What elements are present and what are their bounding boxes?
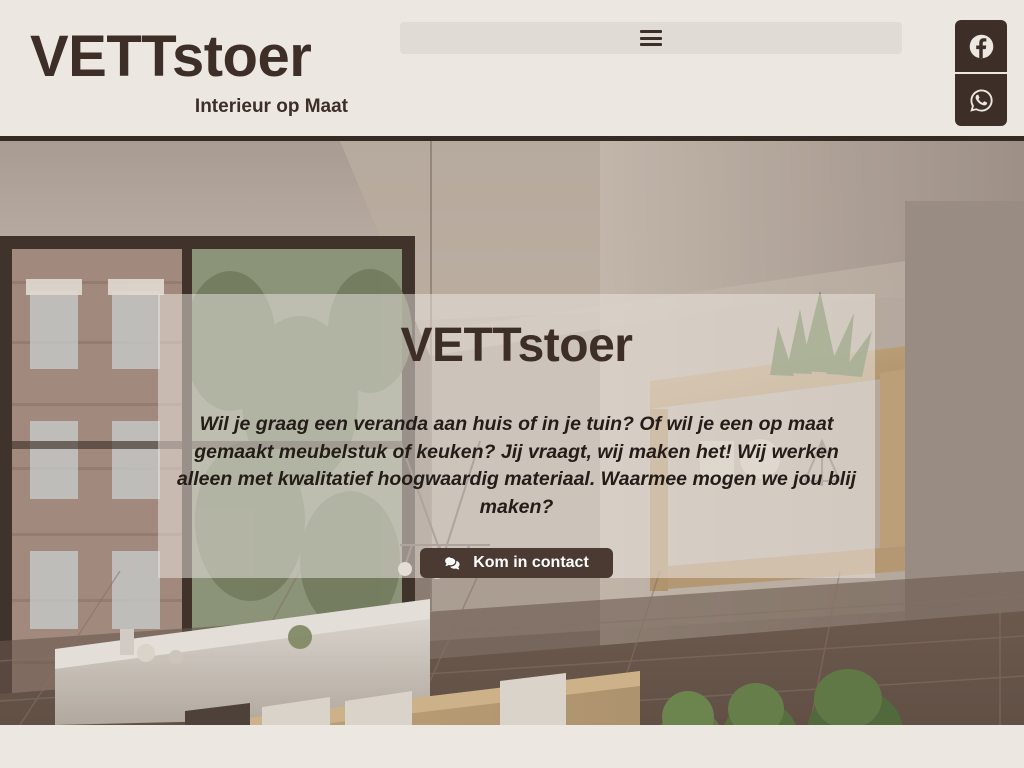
hero-content-overlay: VETTstoer Wil je graag een veranda aan h…: [158, 294, 875, 578]
hero-paragraph: Wil je graag een veranda aan huis of in …: [172, 411, 862, 522]
hamburger-bar: [640, 37, 662, 40]
social-links-rail: [955, 20, 1007, 126]
kom-in-contact-button[interactable]: Kom in contact: [420, 548, 613, 578]
hero-section: VETTstoer Wil je graag een veranda aan h…: [0, 141, 1024, 725]
brand-title-bold: VETT: [30, 24, 172, 89]
facebook-link[interactable]: [955, 20, 1007, 72]
hamburger-bar: [640, 30, 662, 33]
brand-logo[interactable]: VETTstoer Interieur op Maat: [30, 28, 350, 118]
site-header: VETTstoer Interieur op Maat: [0, 0, 1024, 141]
whatsapp-icon: [968, 87, 995, 114]
comments-icon: [444, 554, 462, 572]
hamburger-menu-icon[interactable]: [640, 30, 662, 46]
site-footer: [0, 725, 1024, 768]
primary-nav-bar: [400, 22, 902, 54]
facebook-icon: [968, 33, 995, 60]
hamburger-bar: [640, 43, 662, 46]
whatsapp-link[interactable]: [955, 74, 1007, 126]
brand-title-light: stoer: [172, 24, 311, 89]
kom-in-contact-label: Kom in contact: [473, 554, 589, 572]
brand-title: VETTstoer: [30, 28, 350, 86]
hero-title: VETTstoer: [401, 318, 633, 373]
brand-subtitle: Interieur op Maat: [30, 96, 350, 118]
